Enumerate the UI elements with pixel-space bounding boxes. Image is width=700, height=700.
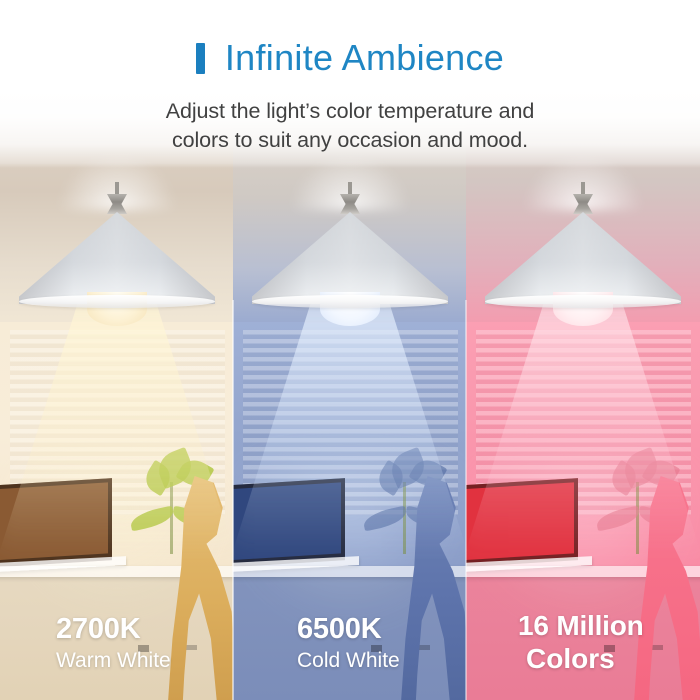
caption-subtitle: Warm White [56,650,171,672]
caption-cold-white: 6500K Cold White [297,615,400,672]
lamp-shade-rim [485,295,681,308]
caption-subtitle: Colors [526,644,644,673]
caption-title: 2700K [56,615,171,644]
caption-title: 16 Million [518,612,644,640]
caption-subtitle: Cold White [297,650,400,672]
lamp-rod [115,182,119,196]
caption-warm-white: 2700K Warm White [56,615,171,672]
pendant-lamp-icon [468,170,698,350]
caption-title: 6500K [297,615,400,644]
pendant-lamp-icon [235,170,465,350]
lamp-shade [485,212,681,304]
lamp-shade [252,212,448,304]
lamp-shade [19,212,215,304]
lamp-rod [581,182,585,196]
pendant-lamp-icon [2,170,232,350]
product-feature-image: 2700K Warm White 6500K Cold White 16 Mil… [0,0,700,700]
lamp-rod [348,182,352,196]
lamp-shade-rim [252,295,448,308]
lamp-shade-rim [19,295,215,308]
caption-rgb-colors: 16 Million Colors [518,612,644,673]
